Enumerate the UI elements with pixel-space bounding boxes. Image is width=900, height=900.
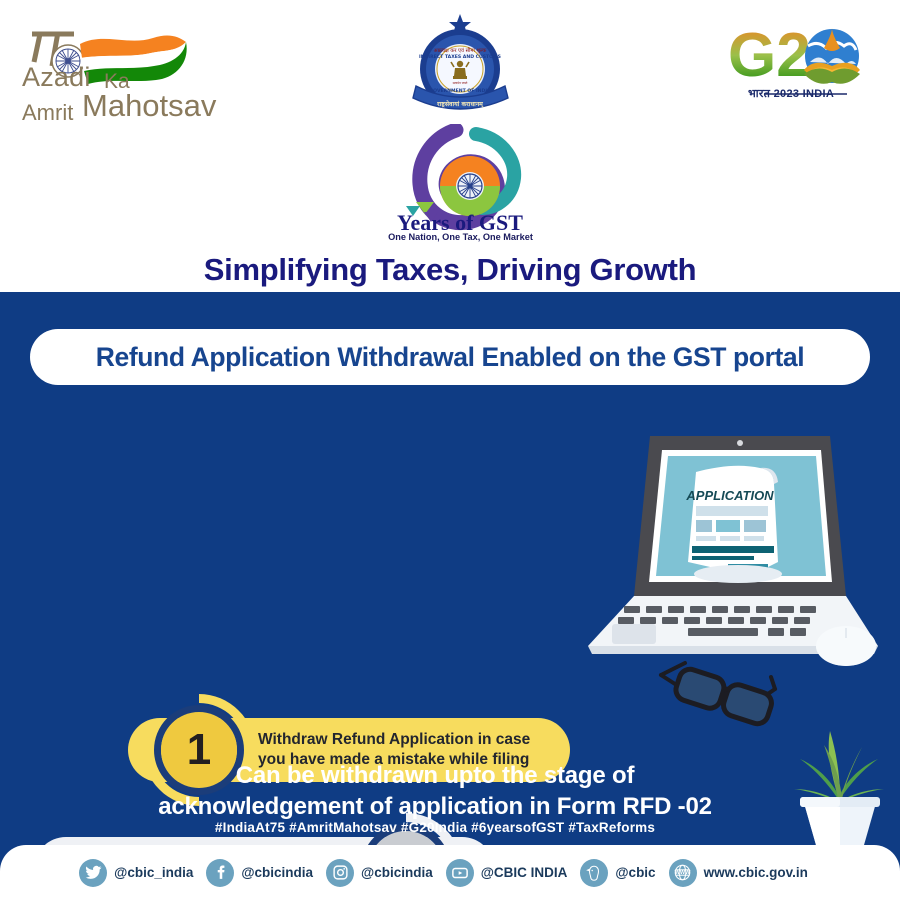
social-item-twitter[interactable]: @cbic_india <box>79 859 193 887</box>
social-item-website[interactable]: WWW www.cbic.gov.in <box>669 859 808 887</box>
social-item-koo[interactable]: @cbic <box>580 859 655 887</box>
social-item-instagram[interactable]: @cbicindia <box>326 859 433 887</box>
step-1-text-line1: Withdraw Refund Application in case <box>258 731 530 748</box>
globe-www-icon[interactable]: WWW <box>669 859 697 887</box>
headline-text: Refund Application Withdrawal Enabled on… <box>96 342 804 373</box>
svg-text:GOVERNMENT OF INDIA: GOVERNMENT OF INDIA <box>429 88 491 94</box>
footer-social-bar: @cbic_india @cbicindia @cbicindia <box>0 845 900 900</box>
g20-subtitle: भारत 2023 INDIA <box>748 86 834 101</box>
youtube-handle[interactable]: @CBIC INDIA <box>481 865 568 880</box>
svg-text:INDIRECT TAXES AND CUSTOMS: INDIRECT TAXES AND CUSTOMS <box>419 54 501 60</box>
cbic-government-of-india-emblem: अप्रत्यक्ष कर एवं सीमा शुल्क INDIRECT TA… <box>408 12 513 116</box>
social-item-facebook[interactable]: @cbicindia <box>206 859 313 887</box>
instagram-handle[interactable]: @cbicindia <box>361 865 433 880</box>
eyeglasses-illustration <box>655 647 795 737</box>
facebook-icon[interactable] <box>206 859 234 887</box>
svg-text:अप्रत्यक्ष कर एवं सीमा शुल्क: अप्रत्यक्ष कर एवं सीमा शुल्क <box>434 47 488 54</box>
twitter-handle[interactable]: @cbic_india <box>114 865 193 880</box>
svg-text:G2: G2 <box>728 21 811 90</box>
youtube-icon[interactable] <box>446 859 474 887</box>
azadi-logo-text-azadi: Azadi <box>22 62 91 93</box>
azadi-logo-text-amrit: Amrit <box>22 100 73 126</box>
page-tagline: Simplifying Taxes, Driving Growth <box>0 252 900 288</box>
gst-logo-subtitle: One Nation, One Tax, One Market <box>368 232 553 242</box>
closing-statement: Can be withdrawn upto the stage of ackno… <box>90 760 780 822</box>
closing-line-2: acknowledgement of application in Form R… <box>158 793 712 820</box>
main-navy-panel: Refund Application Withdrawal Enabled on… <box>0 292 900 900</box>
headline-banner: Refund Application Withdrawal Enabled on… <box>30 329 870 385</box>
twitter-icon[interactable] <box>79 859 107 887</box>
laptop-illustration: APPLICATION <box>578 410 898 670</box>
website-url[interactable]: www.cbic.gov.in <box>704 865 808 880</box>
closing-line-1: Can be withdrawn upto the stage of <box>236 762 635 789</box>
header-section: Amrit Azadi Ka Mahotsav अप्रत्यक्ष कर एव… <box>0 0 900 292</box>
svg-text:राष्ट्रसेवायां कराधानम्: राष्ट्रसेवायां कराधानम् <box>436 100 484 108</box>
infographic-page: Amrit Azadi Ka Mahotsav अप्रत्यक्ष कर एव… <box>0 0 900 900</box>
azadi-logo-text-mahotsav: Mahotsav <box>82 88 216 124</box>
svg-text:WWW: WWW <box>675 870 691 876</box>
potted-plant-illustration <box>782 717 897 847</box>
koo-icon[interactable] <box>580 859 608 887</box>
facebook-handle[interactable]: @cbicindia <box>241 865 313 880</box>
koo-handle[interactable]: @cbic <box>615 865 655 880</box>
instagram-icon[interactable] <box>326 859 354 887</box>
hashtags: #IndiaAt75 #AmritMahotsav #G20India #6ye… <box>90 820 780 835</box>
social-item-youtube[interactable]: @CBIC INDIA <box>446 859 568 887</box>
svg-text:सत्यमेव जयते: सत्यमेव जयते <box>453 81 468 85</box>
laptop-screen-label: APPLICATION <box>685 488 774 503</box>
